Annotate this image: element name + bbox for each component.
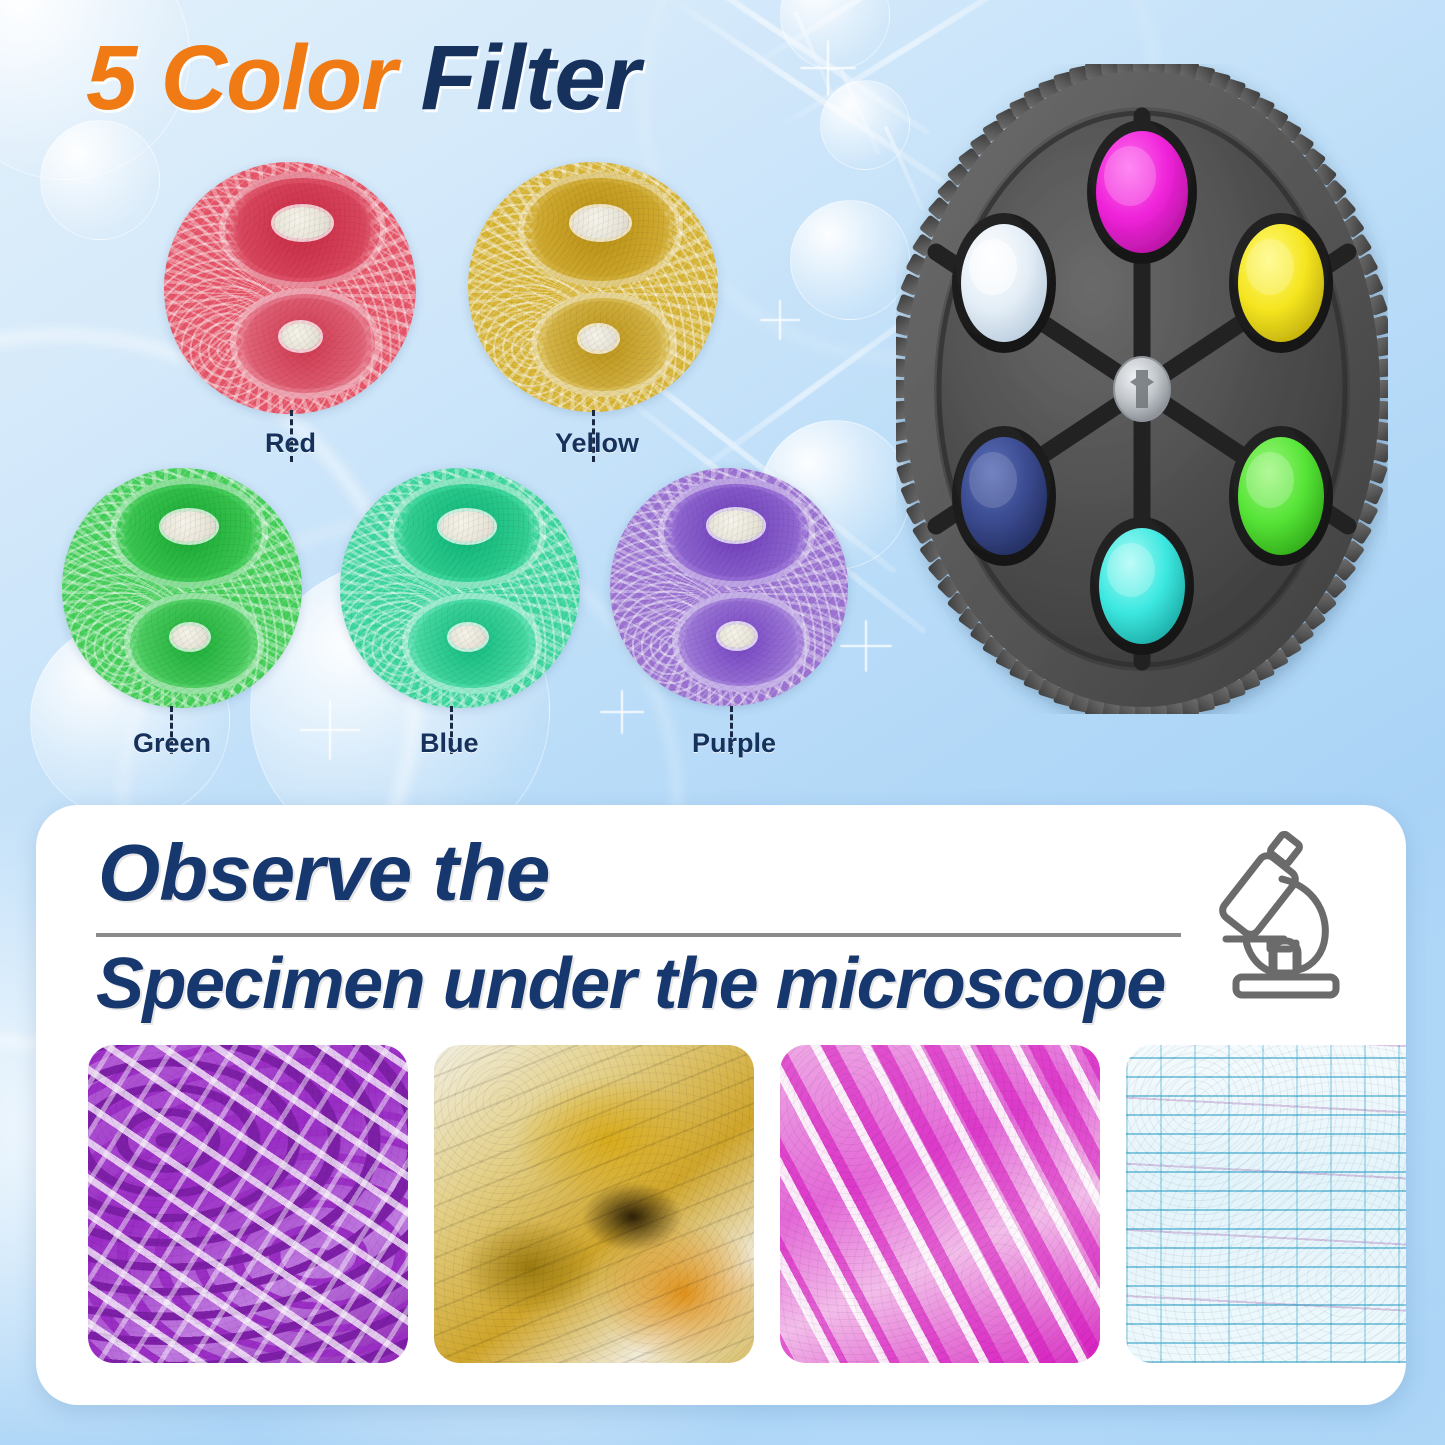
filter-wheel[interactable] [896,64,1388,714]
product-poster: 5 Color Filter Red [0,0,1445,1445]
blue-filter[interactable] [952,426,1056,566]
filter-sample-green [62,468,302,708]
specimen-photo-amber-insect [434,1045,754,1363]
filter-sample-label-red: Red [265,428,316,459]
title-orange-part: 5 Color [86,27,396,129]
filter-sample-label-yellow: Yellow [555,428,639,459]
yellow-filter[interactable] [1229,213,1333,353]
green-filter[interactable] [1229,426,1333,566]
filter-sample-yellow [468,162,718,412]
magenta-filter[interactable] [1087,120,1197,264]
specimen-photo-purple-tissue [88,1045,408,1363]
center-screw[interactable] [1114,357,1170,421]
filter-sample-label-blue: Blue [420,728,479,759]
clear-filter[interactable] [952,213,1056,353]
specimen-photo-pink-muscle [780,1045,1100,1363]
card-title: Observe the [98,827,549,919]
page-title: 5 Color Filter [86,26,639,131]
title-navy-part: Filter [396,27,639,129]
card-divider [96,933,1181,937]
filter-sample-red [164,162,416,414]
filter-sample-label-purple: Purple [692,728,776,759]
bubble [780,0,890,70]
filter-sample-blue [340,468,580,708]
microscope-icon [1212,831,1362,1001]
filter-sample-label-green: Green [133,728,211,759]
bubble [40,120,160,240]
sparkle [800,40,856,96]
sparkle [300,700,360,760]
cyan-filter[interactable] [1090,517,1194,655]
observe-card: Observe the Specimen under the microscop… [36,805,1406,1405]
bubble [790,200,910,320]
filter-wheel-graphic[interactable] [896,64,1388,714]
sparkle [760,300,800,340]
card-subtitle: Specimen under the microscope [96,943,1165,1025]
specimen-photo-blue-plant [1126,1045,1406,1363]
filter-sample-purple [610,468,848,706]
specimen-photo-strip [88,1045,1406,1363]
